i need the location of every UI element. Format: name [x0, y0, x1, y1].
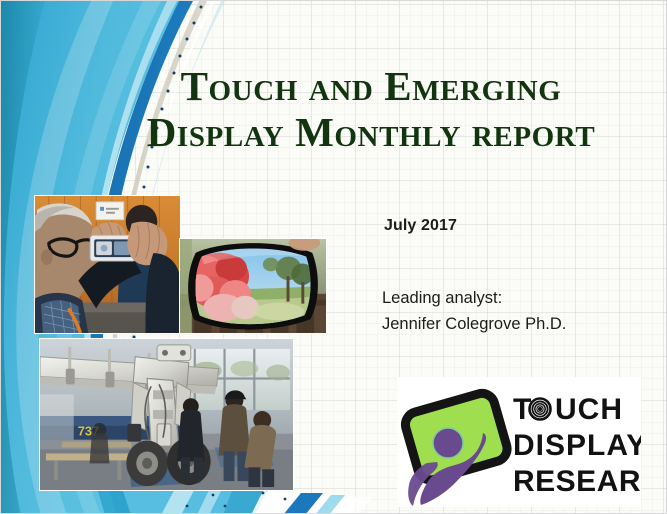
touch-dot	[433, 428, 463, 458]
photo-flexible-display	[179, 238, 327, 334]
presentation-slide: Touch and Emerging Display Monthly repor…	[0, 0, 667, 514]
company-logo: T UCH DISPLAY RESEARCH	[397, 377, 641, 507]
photo-landing-gear: 737	[39, 338, 294, 491]
logo-text-display: DISPLAY	[513, 429, 641, 462]
page-title: Touch and Emerging Display Monthly repor…	[97, 63, 645, 155]
report-date: July 2017	[384, 217, 457, 235]
analyst-name: Jennifer Colegrove Ph.D.	[382, 311, 566, 337]
photo-camera-man	[34, 195, 181, 334]
logo-text-touch-rest: UCH	[555, 393, 623, 426]
logo-text-research: RESEARCH	[513, 465, 641, 498]
analyst-label: Leading analyst:	[382, 285, 566, 311]
ripple-target-icon	[530, 399, 551, 420]
title-line-1: Touch and Emerging	[97, 63, 645, 109]
title-line-2: Display Monthly report	[97, 109, 645, 155]
analyst-block: Leading analyst: Jennifer Colegrove Ph.D…	[382, 285, 566, 337]
